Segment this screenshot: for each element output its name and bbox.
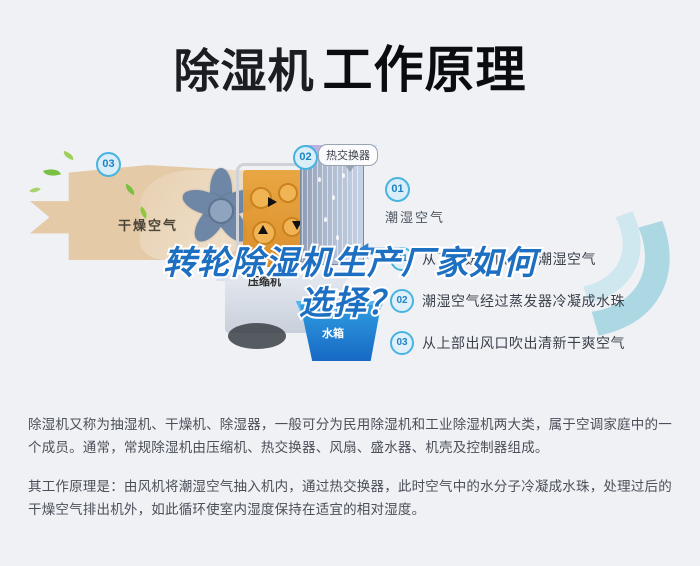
heat-exchanger-fins-icon	[302, 157, 360, 261]
page-title: 除湿机工作原理	[0, 30, 700, 102]
infographic-page: 除湿机工作原理 干燥空气	[0, 0, 700, 566]
legend-list: 01 从下部进风口吸入潮湿空气 02 潮湿空气经过蒸发器冷凝成水珠 03 从上部…	[390, 247, 690, 373]
badge-02: 02	[293, 145, 318, 170]
leaf-icon	[43, 166, 61, 180]
legend-text: 从下部进风口吸入潮湿空气	[422, 249, 596, 269]
title-part-product: 除湿机	[174, 45, 315, 97]
body-paragraph-1: 除湿机又称为抽湿机、干燥机、除湿器，一般可分为民用除湿机和工业除湿机两大类，属于…	[28, 413, 676, 459]
compressor-label: 压缩机	[248, 273, 281, 289]
flow-arrow-right-icon	[268, 197, 277, 207]
dehumidifier-diagram: 干燥空气 压缩	[0, 125, 700, 400]
heat-exchanger-callout: 热交换器	[318, 144, 378, 166]
legend-badge: 03	[390, 331, 414, 355]
legend-item: 02 潮湿空气经过蒸发器冷凝成水珠	[390, 289, 690, 313]
dry-air-label: 干燥空气	[118, 215, 178, 234]
fan-duct-icon	[228, 323, 286, 349]
leaf-icon	[29, 184, 41, 195]
body-copy: 除湿机又称为抽湿机、干燥机、除湿器，一般可分为民用除湿机和工业除湿机两大类，属于…	[28, 413, 676, 537]
humid-air-label: 潮湿空气	[385, 207, 445, 226]
legend-item: 01 从下部进风口吸入潮湿空气	[390, 247, 690, 271]
flow-arrow-up-icon	[258, 225, 268, 234]
legend-item: 03 从上部出风口吹出清新干爽空气	[390, 331, 690, 355]
title-part-principle: 工作原理	[323, 42, 527, 98]
legend-badge: 02	[390, 289, 414, 313]
legend-text: 从上部出风口吹出清新干爽空气	[422, 333, 625, 353]
badge-03: 03	[96, 152, 121, 177]
legend-text: 潮湿空气经过蒸发器冷凝成水珠	[422, 291, 625, 311]
body-paragraph-2: 其工作原理是：由风机将潮湿空气抽入机内，通过热交换器，此时空气中的水分子冷凝成水…	[28, 475, 676, 521]
water-tank-label: 水箱	[322, 325, 344, 341]
badge-01: 01	[385, 177, 410, 202]
leaf-icon	[62, 151, 74, 160]
coil-loop-icon	[278, 183, 298, 203]
legend-badge: 01	[390, 247, 414, 271]
